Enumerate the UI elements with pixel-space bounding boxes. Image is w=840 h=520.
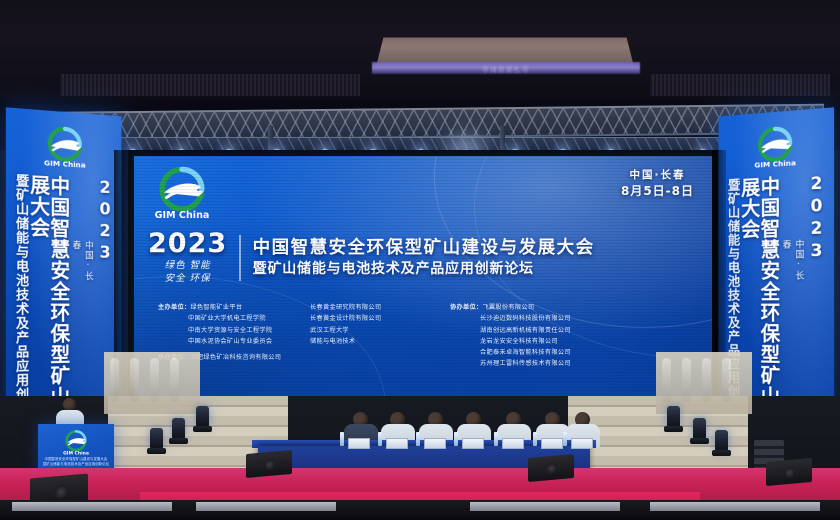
name-placard — [386, 438, 408, 449]
water-bottle — [563, 432, 567, 446]
podium-title-2: 暨矿山储能与电池技术及产品应用创新论坛 — [42, 462, 110, 467]
banner-city: 中国·长春 — [70, 240, 95, 286]
stage-monitor-speaker — [766, 458, 812, 486]
gim-china-logo-icon: GIM China — [748, 124, 803, 172]
balustrade-right — [656, 352, 752, 414]
led-screen-content: GIM China 中国·长春 8月5日-8日 2023 绿色 智能 安全 环保 — [134, 156, 712, 400]
front-rail-segment — [650, 502, 820, 511]
floor-moving-head-light — [196, 406, 209, 428]
stage-monitor-speaker — [528, 454, 574, 482]
front-rail-segment — [470, 502, 620, 511]
balustrade-post — [662, 358, 671, 402]
name-placard — [502, 438, 524, 449]
balustrade-post — [702, 358, 711, 402]
banner-year: 2023 — [96, 178, 115, 240]
speaker-cone — [546, 462, 557, 474]
floor-moving-head-light — [715, 430, 728, 452]
floor-moving-head-light — [667, 406, 680, 428]
balustrade-post — [150, 358, 159, 402]
svg-text:GIM China: GIM China — [44, 158, 86, 169]
name-placard — [571, 438, 593, 449]
main-led-screen: GIM China 中国·长春 8月5日-8日 2023 绿色 智能 安全 环保 — [128, 150, 718, 406]
light-base — [712, 450, 731, 456]
balustrade-post — [170, 358, 179, 402]
speaker-cone — [264, 458, 275, 470]
ceiling-grill-left — [60, 74, 360, 96]
balustrade-post — [110, 358, 119, 402]
speaker-cone — [54, 484, 68, 499]
floor-moving-head-light — [150, 428, 163, 450]
speaker-cone — [784, 466, 795, 478]
svg-text:GIM China: GIM China — [63, 450, 89, 456]
water-bottle — [340, 432, 344, 446]
front-rail-segment — [12, 502, 172, 511]
water-bottle — [416, 432, 420, 446]
name-placard — [462, 438, 484, 449]
banner-year: 2023 — [806, 173, 826, 237]
light-base — [169, 438, 188, 444]
water-bottle — [454, 432, 458, 446]
floor-moving-head-light — [693, 418, 706, 440]
balustrade-left — [104, 352, 200, 414]
front-rail-segment — [196, 502, 336, 511]
gim-china-logo-icon: GIM China — [37, 124, 92, 172]
balustrade-post — [682, 358, 691, 402]
gim-china-logo-icon: GIM China — [59, 430, 93, 456]
light-base — [664, 426, 683, 432]
water-bottle — [494, 432, 498, 446]
floor-moving-head-light — [172, 418, 185, 440]
name-placard — [424, 438, 446, 449]
ceiling-led-text: 全球智能矿业 — [372, 63, 640, 75]
conference-stage-photo: 全球智能矿业 — [0, 0, 840, 520]
light-base — [147, 448, 166, 454]
light-base — [193, 426, 212, 432]
water-bottle — [378, 432, 382, 446]
stage-monitor-speaker — [246, 450, 292, 478]
water-bottle — [533, 432, 537, 446]
led-pixel-grid — [134, 156, 712, 400]
light-base — [690, 438, 709, 444]
balustrade-post — [130, 358, 139, 402]
banner-city: 中国·长春 — [780, 239, 806, 286]
ceiling-grill-right — [650, 74, 830, 96]
svg-text:GIM China: GIM China — [754, 158, 796, 170]
name-placard — [348, 438, 370, 449]
name-placard — [541, 438, 563, 449]
balustrade-post — [722, 358, 731, 402]
